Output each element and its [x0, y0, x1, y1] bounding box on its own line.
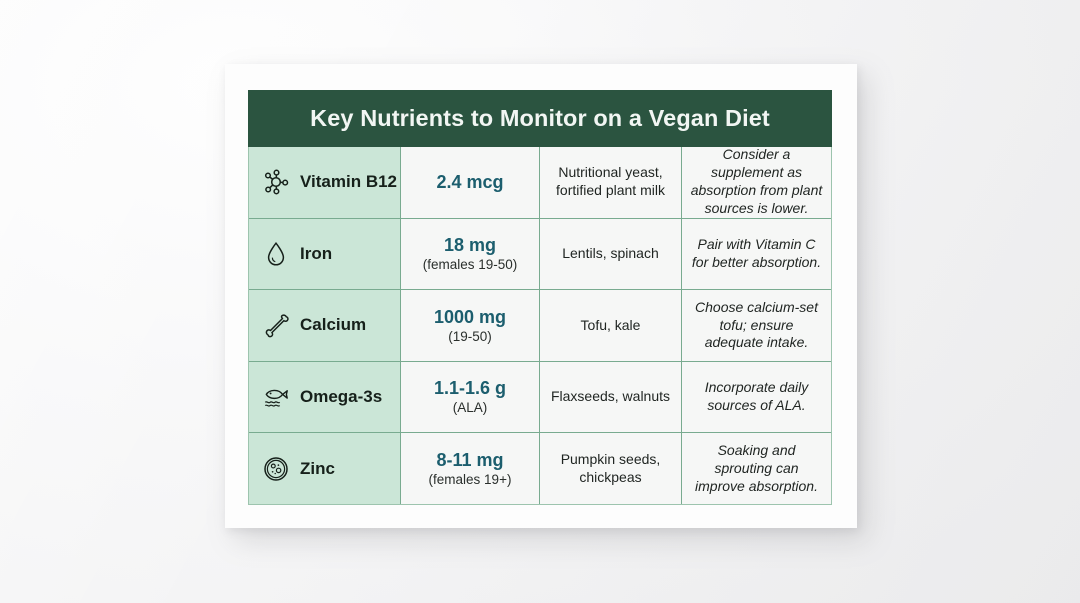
nutrient-cell: Omega-3s [249, 362, 401, 433]
table-row: Omega-3s 1.1-1.6 g (ALA) Flaxseeds, waln… [249, 362, 831, 434]
table-row: Vitamin B12 2.4 mcg Nutritional yeast, f… [249, 147, 831, 219]
table-row: Iron 18 mg (females 19-50) Lentils, spin… [249, 219, 831, 291]
amount-qualifier: (ALA) [453, 400, 488, 416]
page-title: Key Nutrients to Monitor on a Vegan Diet [310, 105, 770, 132]
amount-cell: 2.4 mcg [401, 147, 540, 218]
sources-text: Pumpkin seeds, chickpeas [548, 451, 673, 487]
note-cell: Incorporate daily sources of ALA. [682, 362, 831, 433]
nutrient-name: Vitamin B12 [300, 172, 397, 192]
sources-cell: Nutritional yeast, fortified plant milk [540, 147, 682, 218]
note-cell: Pair with Vitamin C for better absorptio… [682, 219, 831, 290]
table-body: Vitamin B12 2.4 mcg Nutritional yeast, f… [248, 147, 832, 505]
sources-text: Nutritional yeast, fortified plant milk [548, 164, 673, 200]
nutrient-cell: Zinc [249, 433, 401, 504]
note-text: Incorporate daily sources of ALA. [690, 379, 823, 415]
note-cell: Choose calcium-set tofu; ensure adequate… [682, 290, 831, 361]
amount-qualifier: (females 19-50) [423, 257, 518, 273]
amount-cell: 1.1-1.6 g (ALA) [401, 362, 540, 433]
nutrient-cell: Vitamin B12 [249, 147, 401, 218]
note-text: Soaking and sprouting can improve absorp… [690, 442, 823, 496]
sources-cell: Tofu, kale [540, 290, 682, 361]
nutrient-name: Zinc [300, 459, 335, 479]
amount-value: 8-11 mg [436, 450, 503, 471]
note-text: Pair with Vitamin C for better absorptio… [690, 236, 823, 272]
molecule-icon [261, 167, 291, 197]
infographic-card: Key Nutrients to Monitor on a Vegan Diet [225, 64, 857, 528]
bone-icon [261, 310, 291, 340]
amount-value: 1.1-1.6 g [434, 378, 506, 399]
note-text: Consider a supplement as absorption from… [690, 146, 823, 218]
amount-cell: 18 mg (females 19-50) [401, 219, 540, 290]
nutrient-cell: Iron [249, 219, 401, 290]
amount-cell: 8-11 mg (females 19+) [401, 433, 540, 504]
nutrient-name: Omega-3s [300, 387, 382, 407]
zinc-cell-icon [261, 454, 291, 484]
sources-cell: Flaxseeds, walnuts [540, 362, 682, 433]
amount-value: 2.4 mcg [436, 172, 503, 193]
note-cell: Consider a supplement as absorption from… [682, 147, 831, 218]
sources-text: Flaxseeds, walnuts [551, 388, 670, 406]
table-row: Calcium 1000 mg (19-50) Tofu, kale Choos… [249, 290, 831, 362]
table-row: Zinc 8-11 mg (females 19+) Pumpkin seeds… [249, 433, 831, 504]
note-cell: Soaking and sprouting can improve absorp… [682, 433, 831, 504]
amount-value: 1000 mg [434, 307, 506, 328]
nutrients-table: Key Nutrients to Monitor on a Vegan Diet [248, 90, 832, 505]
sources-text: Tofu, kale [581, 317, 641, 335]
sources-cell: Pumpkin seeds, chickpeas [540, 433, 682, 504]
amount-cell: 1000 mg (19-50) [401, 290, 540, 361]
amount-qualifier: (19-50) [448, 329, 492, 345]
droplet-icon [261, 239, 291, 269]
nutrient-name: Calcium [300, 315, 366, 335]
amount-qualifier: (females 19+) [429, 472, 512, 488]
note-text: Choose calcium-set tofu; ensure adequate… [690, 299, 823, 353]
sources-text: Lentils, spinach [562, 245, 659, 263]
nutrient-cell: Calcium [249, 290, 401, 361]
sources-cell: Lentils, spinach [540, 219, 682, 290]
fish-icon [261, 382, 291, 412]
amount-value: 18 mg [444, 235, 496, 256]
nutrient-name: Iron [300, 244, 332, 264]
table-header: Key Nutrients to Monitor on a Vegan Diet [248, 90, 832, 147]
